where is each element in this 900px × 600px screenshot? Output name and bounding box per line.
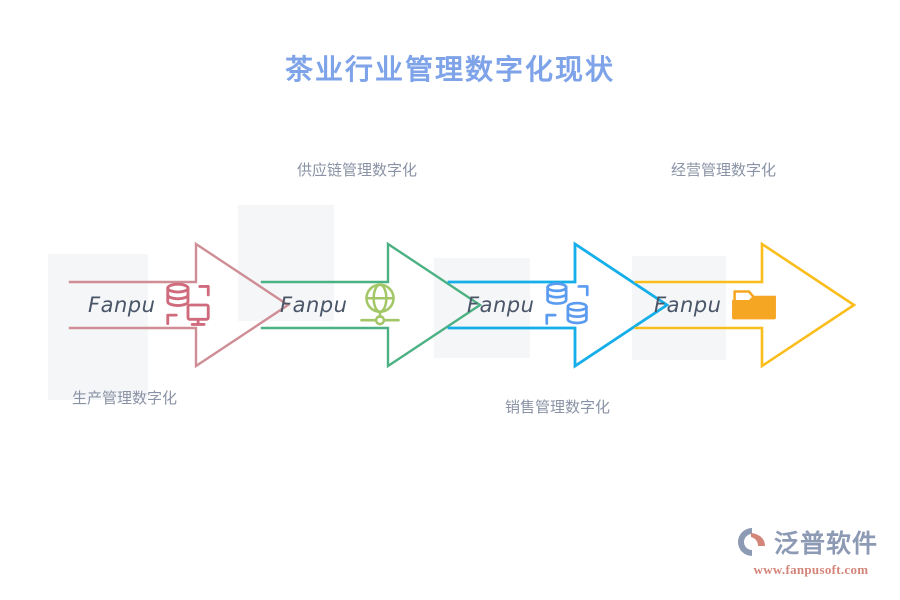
folder-icon xyxy=(727,278,781,332)
step-brand-label: Fanpu xyxy=(654,293,721,317)
step-label-1: 生产管理数字化 xyxy=(72,387,177,408)
page-title: 茶业行业管理数字化现状 xyxy=(0,48,900,88)
database-monitor-icon xyxy=(161,278,215,332)
watermark: 泛普软件 www.fanpusoft.com xyxy=(736,524,886,586)
process-step-4[interactable]: Fanpu xyxy=(632,240,858,370)
double-database-icon xyxy=(540,278,594,332)
step-brand-label: Fanpu xyxy=(280,293,347,317)
step-brand-label: Fanpu xyxy=(467,293,534,317)
fanpu-logo-icon xyxy=(736,527,770,557)
step-label-4: 经营管理数字化 xyxy=(671,159,776,180)
watermark-brand: 泛普软件 xyxy=(774,524,878,560)
step-brand-label: Fanpu xyxy=(88,293,155,317)
step-label-2: 供应链管理数字化 xyxy=(297,159,417,180)
watermark-url: www.fanpusoft.com xyxy=(736,562,886,578)
diagram-canvas: 茶业行业管理数字化现状 Fanpu xyxy=(0,0,900,600)
step-label-3: 销售管理数字化 xyxy=(505,396,610,417)
network-globe-icon xyxy=(353,278,407,332)
